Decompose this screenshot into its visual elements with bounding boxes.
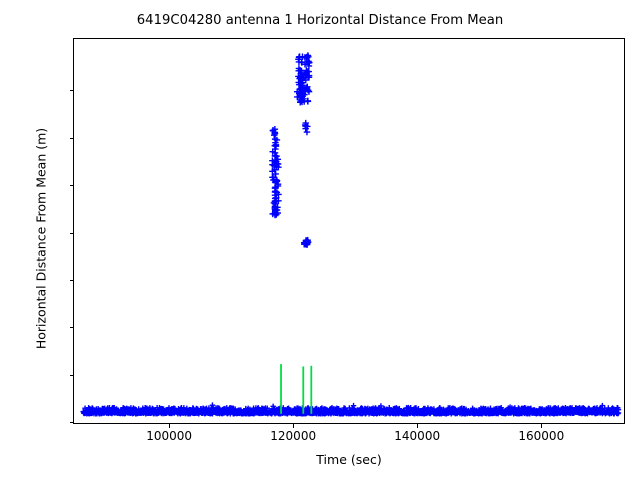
x-axis-label: Time (sec): [73, 452, 625, 467]
ytick-mark: [70, 90, 74, 91]
ytick-mark: [70, 138, 74, 139]
xtick-label: 120000: [270, 429, 316, 443]
xtick-label: 160000: [518, 429, 564, 443]
xtick-label: 140000: [394, 429, 440, 443]
ytick-mark: [70, 185, 74, 186]
xtick-mark: [541, 424, 542, 428]
xtick-mark: [293, 424, 294, 428]
chart-title: 6419C04280 antenna 1 Horizontal Distance…: [0, 13, 640, 28]
ytick-mark: [70, 327, 74, 328]
xtick-mark: [417, 424, 418, 428]
ytick-mark: [70, 375, 74, 376]
scatter-canvas: [74, 39, 624, 423]
ytick-mark: [70, 422, 74, 423]
ytick-mark: [70, 233, 74, 234]
y-axis-label: Horizontal Distance From Mean (m): [34, 46, 49, 432]
xtick-label: 100000: [146, 429, 192, 443]
plot-area: [73, 38, 625, 424]
xtick-mark: [169, 424, 170, 428]
ytick-mark: [70, 280, 74, 281]
chart-figure: 6419C04280 antenna 1 Horizontal Distance…: [0, 0, 640, 480]
